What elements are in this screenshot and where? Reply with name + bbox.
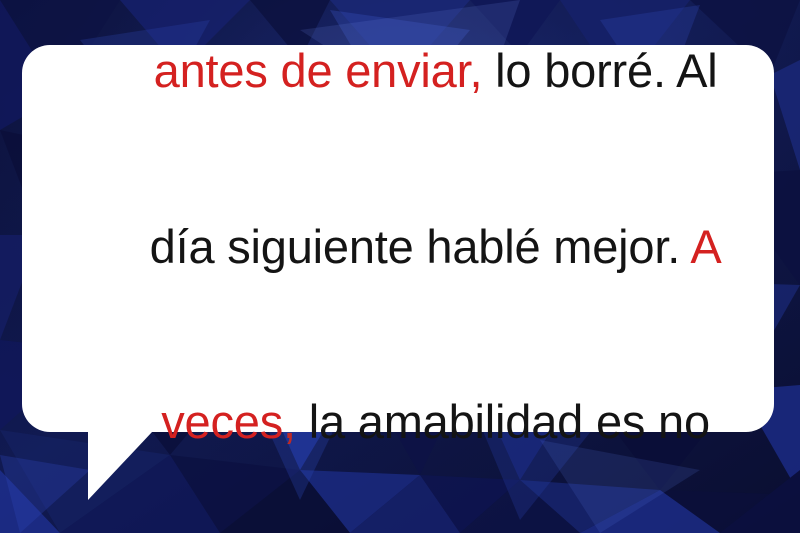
quote-segment-text: la amabilidad es no (296, 395, 710, 448)
quote-block: Escribí con enojo, pero antes de enviar,… (38, 82, 756, 412)
quote-segment-punctuation: , (283, 395, 296, 448)
quote-card-canvas: Escribí con enojo, pero antes de enviar,… (0, 0, 800, 533)
quote-segment-highlight: veces (161, 395, 283, 448)
quote-line-4: veces, la amabilidad es no (38, 335, 756, 511)
quote-line-2: antes de enviar, lo borré. Al (38, 0, 756, 159)
quote-segment-text: lo borré. Al (482, 44, 717, 97)
quote-line-3: día siguiente hablé mejor. A (38, 159, 756, 335)
quote-segment-highlight: antes de enviar, (154, 44, 483, 97)
quote-line-5: decir nada. (38, 510, 756, 533)
quote-segment-highlight: A (690, 220, 721, 273)
quote-segment-text: día siguiente hablé mejor. (150, 220, 691, 273)
